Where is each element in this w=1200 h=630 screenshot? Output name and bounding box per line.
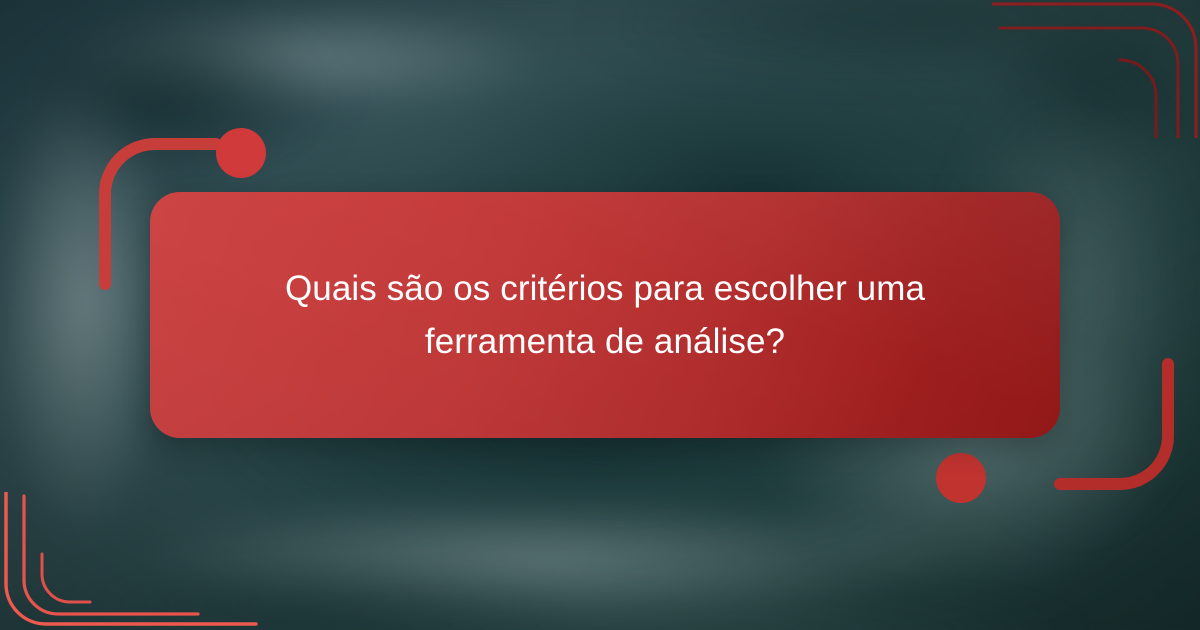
question-title: Quais são os critérios para escolher uma… xyxy=(183,262,1027,368)
decorative-dot-bottom-icon xyxy=(936,453,986,503)
question-card: Quais são os critérios para escolher uma… xyxy=(150,192,1060,438)
decorative-dot-top-icon xyxy=(216,128,266,178)
poster-canvas: Quais são os critérios para escolher uma… xyxy=(0,0,1200,630)
